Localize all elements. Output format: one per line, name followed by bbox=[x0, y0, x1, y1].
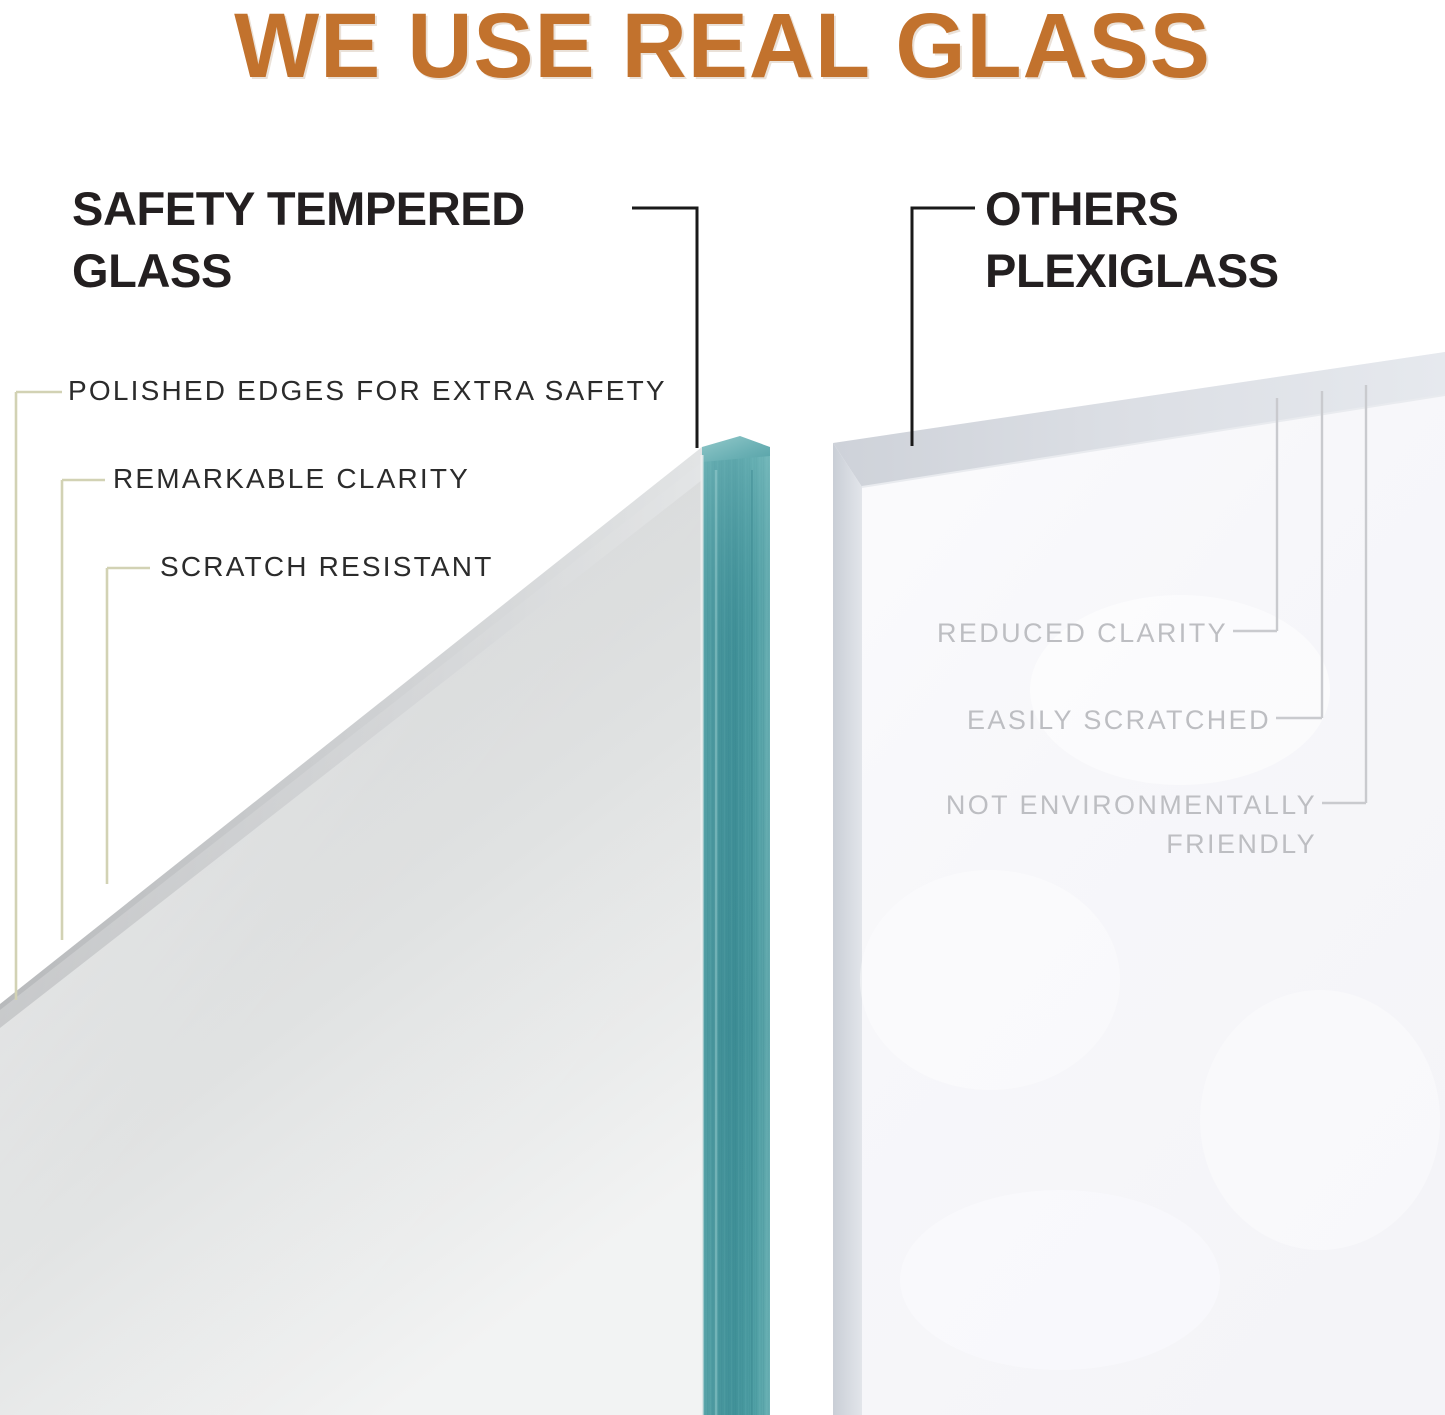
con-label-easily-scratched: EASILY SCRATCHED bbox=[833, 701, 1271, 740]
left-panel-heading: SAFETY TEMPERED GLASS bbox=[72, 178, 525, 302]
con-label-reduced-clarity: REDUCED CLARITY bbox=[833, 614, 1228, 653]
page-title: WE USE REAL GLASS bbox=[14, 0, 1430, 99]
con-label-not-environmentally-friendly: NOT ENVIRONMENTALLY FRIENDLY bbox=[833, 786, 1317, 864]
feature-label-scratch-resistant: SCRATCH RESISTANT bbox=[160, 551, 494, 583]
right-panel-heading: OTHERS PLEXIGLASS bbox=[985, 178, 1279, 302]
feature-label-polished-edges: POLISHED EDGES FOR EXTRA SAFETY bbox=[68, 375, 667, 407]
text-layer: WE USE REAL GLASS SAFETY TEMPERED GLASS … bbox=[0, 0, 1445, 1415]
infographic-canvas: WE USE REAL GLASS SAFETY TEMPERED GLASS … bbox=[0, 0, 1445, 1415]
feature-label-remarkable-clarity: REMARKABLE CLARITY bbox=[113, 463, 470, 495]
